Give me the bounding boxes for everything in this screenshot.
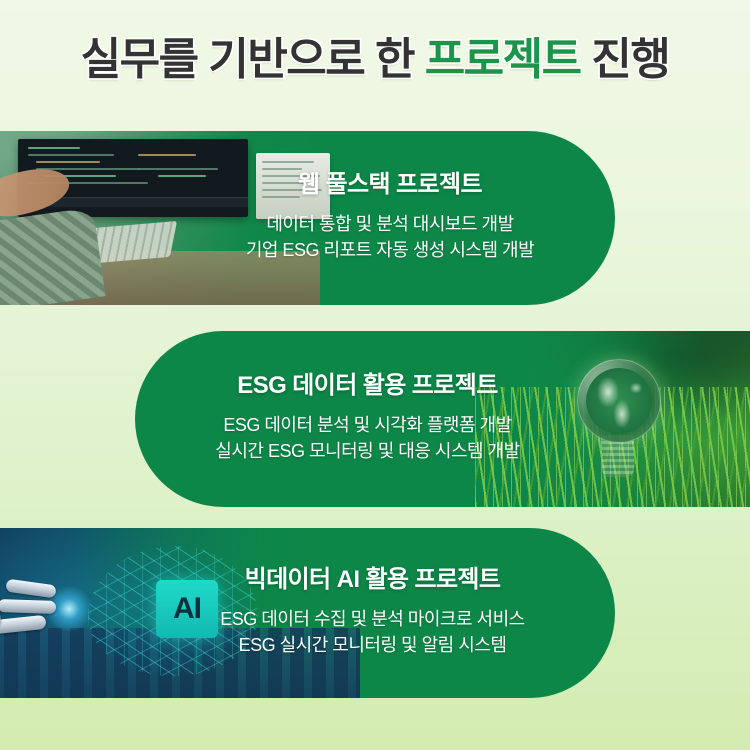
plaid-shirt: [0, 207, 106, 305]
card-line: 실시간 ESG 모니터링 및 대응 시스템 개발: [215, 438, 519, 464]
project-card-web-fullstack[interactable]: 웹 풀스택 프로젝트 데이터 통합 및 분석 대시보드 개발 기업 ESG 리포…: [0, 131, 615, 305]
card-title: 웹 풀스택 프로젝트: [298, 173, 482, 197]
project-card-bigdata-ai[interactable]: AI 빅데이터 AI 활용 프로젝트 ESG 데이터 수집 및 분석 마이크로 …: [0, 528, 615, 698]
card-line: ESG 실시간 모니터링 및 알림 시스템: [239, 632, 507, 658]
card-line: 기업 ESG 리포트 자동 생성 시스템 개발: [246, 237, 534, 263]
card-line: ESG 데이터 분석 및 시각화 플랫폼 개발: [223, 412, 511, 438]
page-title-accent: 프로젝트: [425, 35, 581, 84]
robot-hand: [0, 580, 62, 646]
card-line: 데이터 통합 및 분석 대시보드 개발: [266, 211, 513, 237]
page-title-text: 실무를 기반으로 한 프로젝트 진행: [81, 38, 670, 82]
lightbulb-glass: [577, 359, 661, 443]
card-title: 빅데이터 AI 활용 프로젝트: [245, 568, 501, 592]
card-text-block: 웹 풀스택 프로젝트 데이터 통합 및 분석 대시보드 개발 기업 ESG 리포…: [210, 131, 570, 305]
page-title: 실무를 기반으로 한 프로젝트 진행: [0, 0, 750, 120]
card-title: ESG 데이터 활용 프로젝트: [237, 374, 497, 398]
card-text-block: 빅데이터 AI 활용 프로젝트 ESG 데이터 수집 및 분석 마이크로 서비스…: [175, 528, 570, 698]
globe-icon: [586, 368, 652, 434]
poster-canvas: 실무를 기반으로 한 프로젝트 진행: [0, 0, 750, 750]
card-line: ESG 데이터 수집 및 분석 마이크로 서비스: [220, 606, 524, 632]
page-title-prefix: 실무를 기반으로 한: [81, 35, 425, 84]
page-title-suffix: 진행: [581, 35, 670, 84]
card-text-block: ESG 데이터 활용 프로젝트 ESG 데이터 분석 및 시각화 플랫폼 개발 …: [180, 331, 555, 507]
project-card-esg-data[interactable]: ESG 데이터 활용 프로젝트 ESG 데이터 분석 및 시각화 플랫폼 개발 …: [135, 331, 750, 507]
